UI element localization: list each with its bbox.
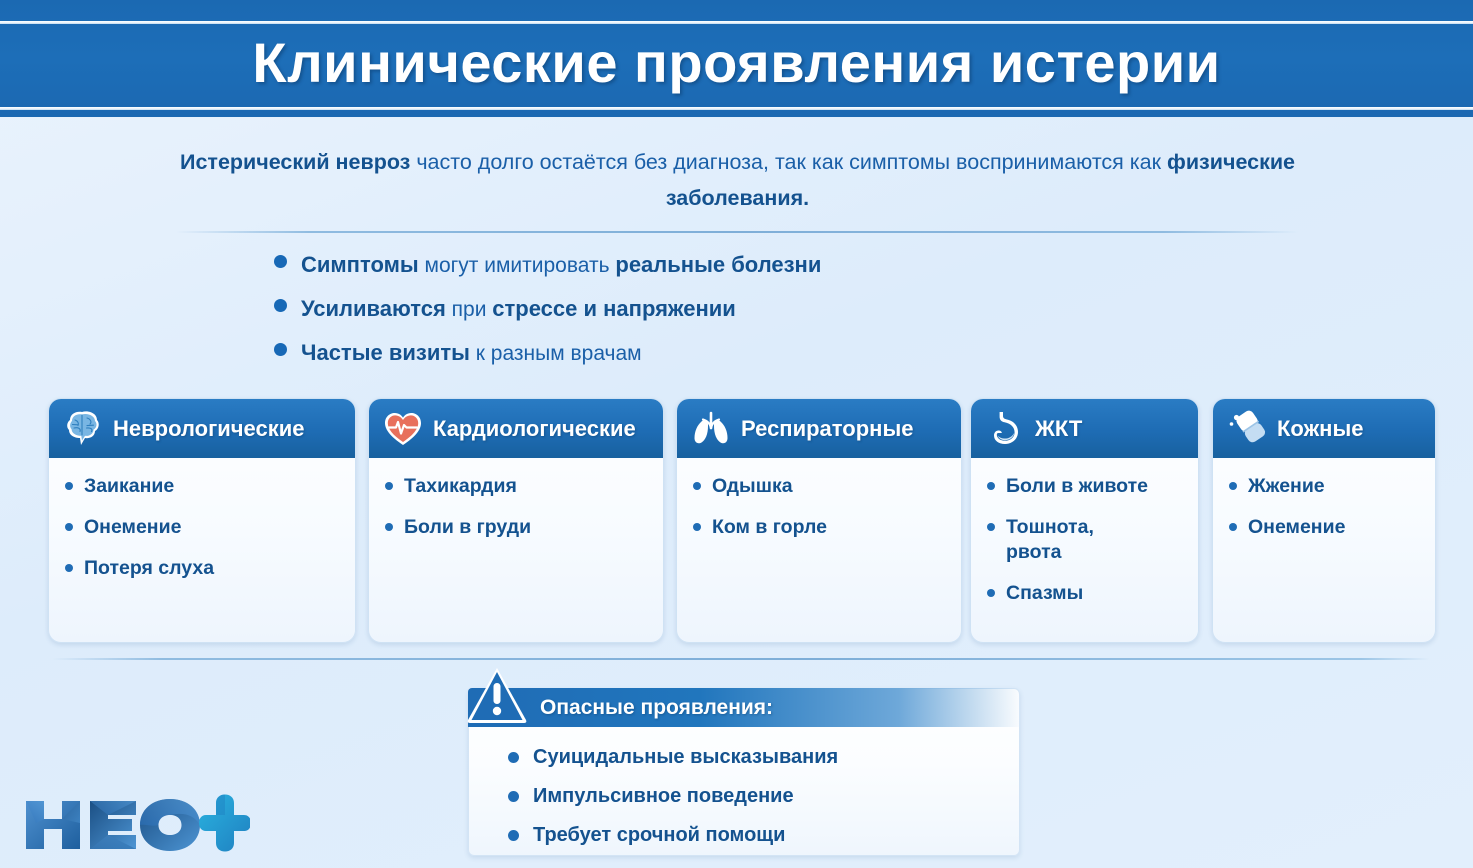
key-point-row: Частые визиты к разным врачам [274, 340, 1274, 384]
neo-plus-logo [22, 793, 250, 855]
danger-item-label: Импульсивное поведение [533, 785, 794, 808]
bullet-dot-icon [693, 523, 701, 531]
card-item: Жжение [1229, 474, 1423, 499]
danger-signs-heading: Опасные проявления: [540, 692, 773, 723]
card-item: Потеря слуха [65, 556, 343, 581]
bullet-dot-icon [508, 791, 519, 802]
card-body: Боли в животе Тошнота, рвота Спазмы [971, 458, 1198, 606]
bullet-dot-icon [274, 299, 287, 312]
card-item: Спазмы [987, 581, 1186, 606]
kp-regular: к разным врачам [470, 342, 642, 365]
intro-middle-text: часто долго остаётся без диагноза, так к… [410, 150, 1167, 174]
card-item: Тошнота, рвота [987, 515, 1186, 565]
card-item-label: Заикание [84, 474, 174, 499]
card-title: Респираторные [741, 416, 913, 442]
key-point-text: Частые визиты к разным врачам [301, 340, 642, 366]
bullet-dot-icon [274, 343, 287, 356]
intro-lead-bold: Истерический невроз [180, 150, 410, 174]
intro-divider [176, 231, 1298, 233]
header-rule-top [0, 21, 1473, 24]
card-item-label: Боли в животе [1006, 474, 1148, 499]
heart-ecg-icon [381, 407, 425, 451]
card-item: Боли в животе [987, 474, 1186, 499]
bullet-dot-icon [65, 523, 73, 531]
header-rule-bottom [0, 107, 1473, 110]
card-title: Неврологические [113, 416, 305, 442]
bullet-dot-icon [508, 830, 519, 841]
card-header: Неврологические [49, 399, 355, 458]
kp-bold-lead: Усиливаются [301, 296, 446, 321]
card-item-label: Онемение [1248, 515, 1345, 540]
card-dermatological[interactable]: Кожные Жжение Онемение [1212, 398, 1436, 643]
danger-item: Импульсивное поведение [508, 777, 1008, 816]
key-points-list: Симптомы могут имитировать реальные боле… [274, 252, 1274, 384]
key-point-text: Усиливаются при стрессе и напряжении [301, 296, 736, 322]
card-body: Одышка Ком в горле [677, 458, 961, 540]
key-point-text: Симптомы могут имитировать реальные боле… [301, 252, 821, 278]
danger-item-label: Требует срочной помощи [533, 824, 785, 847]
card-item: Боли в груди [385, 515, 651, 540]
card-item: Заикание [65, 474, 343, 499]
card-body: Жжение Онемение [1213, 458, 1435, 540]
card-header: Кардиологические [369, 399, 663, 458]
cards-divider [52, 658, 1430, 660]
bullet-dot-icon [1229, 482, 1237, 490]
kp-bold-lead: Симптомы [301, 252, 419, 277]
bullet-dot-icon [1229, 523, 1237, 531]
danger-item: Суицидальные высказывания [508, 738, 1008, 777]
bullet-dot-icon [987, 523, 995, 531]
kp-bold-tail: стрессе и напряжении [492, 296, 736, 321]
card-item-label: Тахикардия [404, 474, 517, 499]
kp-regular: могут имитировать [419, 254, 616, 277]
card-title: ЖКТ [1035, 416, 1082, 442]
bullet-dot-icon [385, 523, 393, 531]
bullet-dot-icon [65, 564, 73, 572]
card-cardiological[interactable]: Кардиологические Тахикардия Боли в груди [368, 398, 664, 643]
card-item: Онемение [65, 515, 343, 540]
brain-icon [61, 407, 105, 451]
card-title: Кардиологические [433, 416, 636, 442]
card-header: Респираторные [677, 399, 961, 458]
key-point-row: Симптомы могут имитировать реальные боле… [274, 252, 1274, 296]
card-item-label: Потеря слуха [84, 556, 214, 581]
card-item: Онемение [1229, 515, 1423, 540]
card-item-label: Онемение [84, 515, 181, 540]
card-item-label: Жжение [1248, 474, 1325, 499]
bullet-dot-icon [274, 255, 287, 268]
bullet-dot-icon [987, 589, 995, 597]
card-item-label: Тошнота, рвота [1006, 515, 1126, 565]
card-item-label: Ком в горле [712, 515, 827, 540]
card-item: Тахикардия [385, 474, 651, 499]
card-gastrointestinal[interactable]: ЖКТ Боли в животе Тошнота, рвота Спазмы [970, 398, 1199, 643]
danger-item: Требует срочной помощи [508, 816, 1008, 855]
skin-patch-icon [1225, 407, 1269, 451]
bullet-dot-icon [508, 752, 519, 763]
bullet-dot-icon [987, 482, 995, 490]
card-item-label: Боли в груди [404, 515, 531, 540]
kp-regular: при [446, 298, 492, 321]
card-header: Кожные [1213, 399, 1435, 458]
bullet-dot-icon [693, 482, 701, 490]
warning-triangle-icon [466, 666, 528, 724]
kp-bold-tail: реальные болезни [615, 252, 821, 277]
kp-bold-lead: Частые визиты [301, 340, 470, 365]
card-header: ЖКТ [971, 399, 1198, 458]
intro-paragraph: Истерический невроз часто долго остаётся… [180, 144, 1295, 216]
page-title: Клинические проявления истерии [0, 25, 1473, 101]
card-item: Ком в горле [693, 515, 949, 540]
bullet-dot-icon [65, 482, 73, 490]
card-neurological[interactable]: Неврологические Заикание Онемение Потеря… [48, 398, 356, 643]
card-title: Кожные [1277, 416, 1364, 442]
card-body: Заикание Онемение Потеря слуха [49, 458, 355, 581]
key-point-row: Усиливаются при стрессе и напряжении [274, 296, 1274, 340]
card-body: Тахикардия Боли в груди [369, 458, 663, 540]
danger-item-label: Суицидальные высказывания [533, 746, 838, 769]
card-item-label: Одышка [712, 474, 793, 499]
card-respiratory[interactable]: Респираторные Одышка Ком в горле [676, 398, 962, 643]
danger-signs-list: Суицидальные высказывания Импульсивное п… [508, 738, 1008, 855]
stomach-icon [983, 407, 1027, 451]
lungs-icon [689, 407, 733, 451]
card-item: Одышка [693, 474, 949, 499]
card-item-label: Спазмы [1006, 581, 1083, 606]
bullet-dot-icon [385, 482, 393, 490]
symptom-cards-row: Неврологические Заикание Онемение Потеря… [0, 398, 1473, 643]
